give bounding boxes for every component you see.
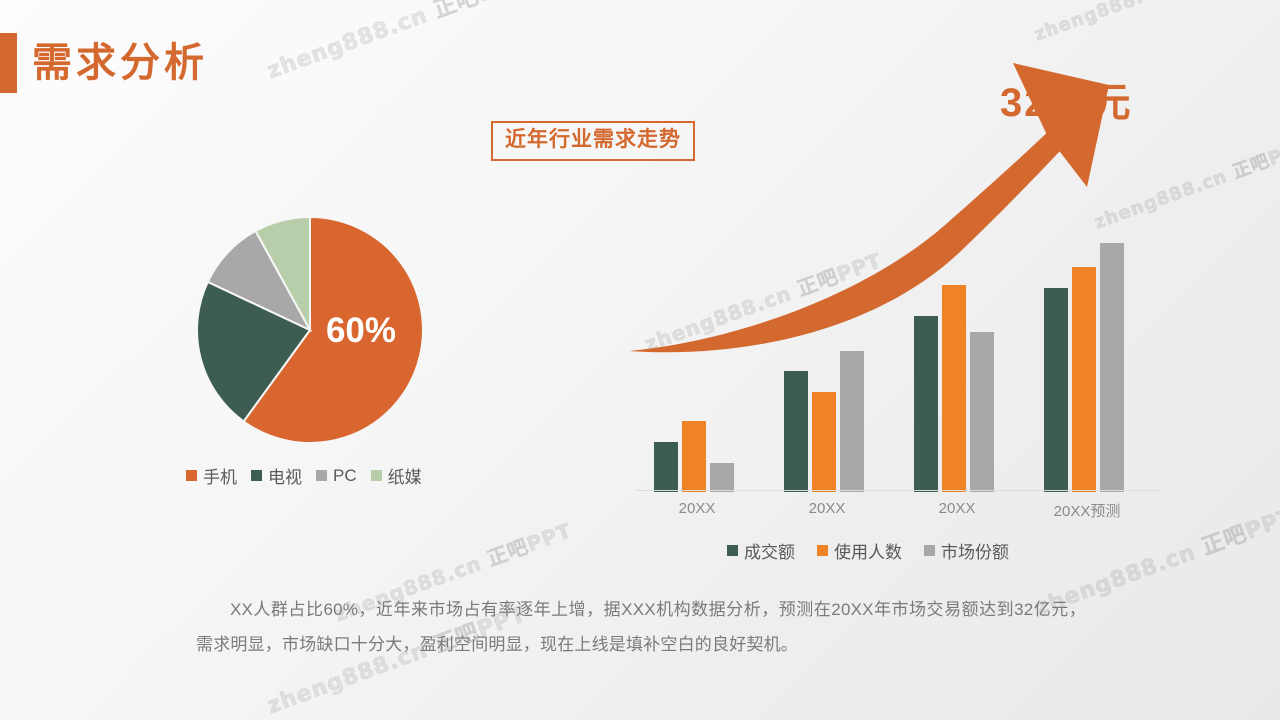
legend-swatch-icon [251,470,262,481]
x-axis-label-1: 20XX [632,500,762,517]
bar-group-3 [914,285,1000,492]
summary-paragraph: XX人群占比60%，近年来市场占有率逐年上增，据XXX机构数据分析，预测在20X… [196,592,1086,662]
watermark-text: zheng888.cn 正吧PPT [262,0,530,85]
bar-市场份额-2 [840,351,864,492]
legend-item-使用人数: 使用人数 [817,538,902,563]
bar-成交额-3 [914,316,938,492]
legend-label: 成交额 [744,538,795,563]
bar-chart-baseline [636,490,1160,491]
legend-label: 使用人数 [834,538,902,563]
x-axis-label-3: 20XX [892,500,1022,517]
legend-swatch-icon [924,545,935,556]
legend-item-电视: 电视 [251,463,302,488]
legend-item-PC: PC [316,466,357,486]
bar-chart [636,230,1160,492]
title-accent-bar [0,33,17,93]
bar-使用人数-1 [682,421,706,492]
legend-swatch-icon [316,470,327,481]
legend-swatch-icon [727,545,738,556]
bar-市场份额-4 [1100,243,1124,492]
bar-使用人数-4 [1072,267,1096,492]
bar-group-2 [784,351,870,492]
legend-label: 纸媒 [388,463,422,488]
legend-label: 手机 [203,463,237,488]
slide-canvas: zheng888.cn 正吧PPTzheng888.cn 正吧PPTzheng8… [0,0,1280,720]
bar-市场份额-1 [710,463,734,492]
legend-item-成交额: 成交额 [727,538,795,563]
bar-使用人数-2 [812,392,836,492]
bar-成交额-2 [784,371,808,492]
bar-成交额-4 [1044,288,1068,492]
legend-swatch-icon [186,470,197,481]
legend-item-纸媒: 纸媒 [371,463,422,488]
bar-市场份额-3 [970,332,994,492]
legend-swatch-icon [371,470,382,481]
bar-group-1 [654,421,740,492]
pie-chart-svg [196,216,424,444]
bar-使用人数-3 [942,285,966,492]
page-title: 需求分析 [32,33,208,93]
x-axis-label-4: 20XX预测 [1022,500,1152,521]
legend-label: 市场份额 [941,538,1009,563]
legend-item-市场份额: 市场份额 [924,538,1009,563]
legend-item-手机: 手机 [186,463,237,488]
x-axis-label-2: 20XX [762,500,892,517]
legend-label: PC [333,466,357,486]
pie-chart: 60% [196,216,424,444]
bar-group-4 [1044,243,1130,492]
legend-label: 电视 [268,463,302,488]
watermark-text: zheng888.cn 正吧PPT [1030,0,1252,46]
legend-swatch-icon [817,545,828,556]
pie-chart-legend: 手机电视PC纸媒 [186,463,422,488]
bar-chart-x-axis: 20XX20XX20XX20XX预测 [636,500,1160,524]
bar-成交额-1 [654,442,678,492]
bar-chart-legend: 成交额使用人数市场份额 [727,538,1009,563]
